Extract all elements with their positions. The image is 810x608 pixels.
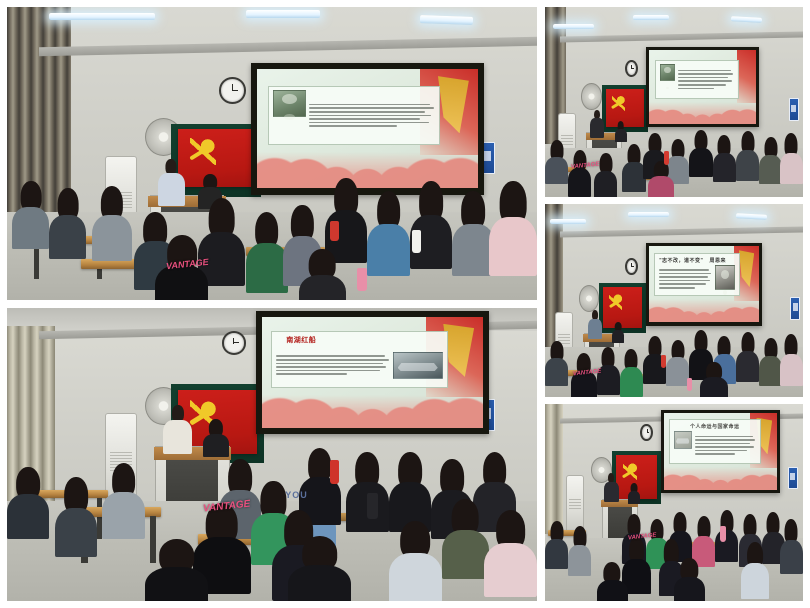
student xyxy=(410,181,452,269)
student xyxy=(736,332,759,382)
slide-title: 个人命运与国家命运 xyxy=(674,423,756,430)
student xyxy=(648,161,674,197)
photo-right-1[interactable]: VANTAGE xyxy=(545,7,803,197)
light-tube xyxy=(736,213,767,220)
student xyxy=(689,130,712,177)
student xyxy=(571,353,597,397)
student xyxy=(545,341,568,385)
student xyxy=(246,212,288,294)
student xyxy=(55,477,97,557)
student xyxy=(102,463,144,539)
student xyxy=(442,499,490,579)
light-tube xyxy=(731,16,762,23)
wall-clock xyxy=(222,331,246,354)
student xyxy=(484,510,537,597)
slide-quote-heading: "志不改，道不变" xyxy=(659,257,703,264)
student xyxy=(367,191,409,276)
student xyxy=(666,340,689,386)
light-tube xyxy=(553,24,594,29)
slide-boat-photo xyxy=(393,352,443,379)
student xyxy=(736,131,759,180)
water-bottle xyxy=(412,230,420,253)
slide-portrait-image xyxy=(273,90,305,117)
water-bottle xyxy=(664,151,669,164)
slide-body-text xyxy=(678,64,734,94)
audience xyxy=(545,106,803,197)
light-tube xyxy=(49,13,155,21)
student xyxy=(597,347,620,395)
student xyxy=(620,349,643,397)
slide-text-card xyxy=(655,60,739,98)
student xyxy=(155,235,208,300)
light-tube xyxy=(633,15,669,20)
hammer-sickle-icon xyxy=(623,462,637,482)
audience xyxy=(7,419,537,601)
wall-clock xyxy=(625,258,638,275)
student xyxy=(674,558,705,601)
student xyxy=(49,188,86,259)
slide-icon-graphic xyxy=(674,431,692,449)
slide-text-card: "志不改，道不变" 周恩来 xyxy=(654,253,740,296)
water-bottle xyxy=(687,378,692,392)
slide-text-card: 南湖红船 xyxy=(271,331,447,388)
light-tube xyxy=(550,219,586,224)
jacket-graphic-text-2: YOU xyxy=(285,490,308,500)
audience xyxy=(7,130,537,300)
slide-red-decor xyxy=(737,50,756,103)
projector-screen: 个人命运与国家命运 xyxy=(661,410,780,493)
student xyxy=(780,133,803,184)
water-bottle xyxy=(330,221,338,242)
water-bottle xyxy=(330,460,338,483)
slide-portrait-image xyxy=(715,265,735,290)
slide-attribution: 周恩来 xyxy=(709,257,726,264)
photo-bottom-left[interactable]: 南湖红船 xyxy=(7,308,537,601)
student xyxy=(594,153,617,197)
photo-collage: VANTAGE xyxy=(0,0,810,608)
slide-body-text xyxy=(276,347,389,384)
light-tube xyxy=(420,15,473,24)
student xyxy=(299,249,347,300)
water-bottle xyxy=(367,493,378,519)
slide-title: 南湖红船 xyxy=(276,335,442,345)
student xyxy=(389,521,442,601)
slide-body-text xyxy=(659,265,712,292)
student xyxy=(7,467,49,540)
light-tube xyxy=(246,10,320,18)
photo-top-left[interactable]: VANTAGE xyxy=(7,7,537,300)
projector-screen: 南湖红船 xyxy=(256,311,489,434)
photo-right-3[interactable]: 个人命运与国家命运 xyxy=(545,404,803,601)
slide-text-card: 个人命运与国家命运 xyxy=(669,419,761,463)
student xyxy=(597,562,628,601)
student xyxy=(545,521,568,569)
light-tube xyxy=(628,212,669,217)
audience xyxy=(545,304,803,397)
student xyxy=(145,539,209,601)
student xyxy=(545,140,568,184)
student xyxy=(346,452,388,532)
student xyxy=(489,181,537,276)
student xyxy=(780,334,803,386)
student xyxy=(700,362,728,397)
student xyxy=(713,135,736,182)
water-bottle xyxy=(720,526,725,542)
wall-notice-sign xyxy=(788,467,798,489)
student xyxy=(12,181,49,249)
student xyxy=(741,542,769,599)
slide-portrait-image xyxy=(660,64,675,80)
student xyxy=(568,526,591,576)
audience xyxy=(545,487,803,601)
student xyxy=(452,191,494,276)
photo-right-2[interactable]: "志不改，道不变" 周恩来 xyxy=(545,204,803,397)
student xyxy=(780,519,803,574)
student xyxy=(568,150,591,197)
student xyxy=(715,510,738,563)
water-bottle xyxy=(357,268,368,291)
slide-body-text xyxy=(695,431,756,459)
water-bottle xyxy=(661,355,666,369)
wall-clock xyxy=(219,77,246,103)
wall-clock xyxy=(625,60,638,77)
student xyxy=(92,186,132,261)
student xyxy=(389,452,431,532)
student xyxy=(288,536,352,601)
